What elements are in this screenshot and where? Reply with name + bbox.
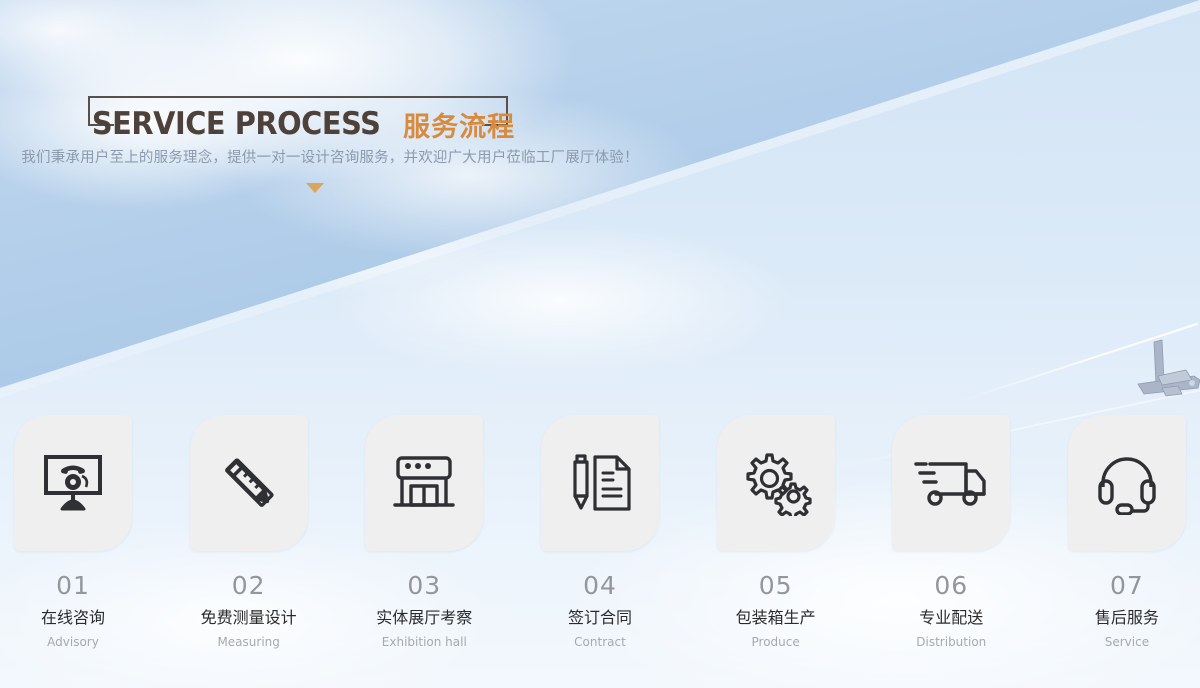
step-icon-card[interactable] (190, 415, 308, 551)
step-icon-card[interactable] (1068, 415, 1186, 551)
title-chinese: 服务流程 (403, 105, 515, 144)
page-title: SERVICE PROCESS 服务流程 (88, 102, 508, 146)
chevron-down-icon (306, 183, 324, 193)
service-process-banner: SERVICE PROCESS 服务流程 我们秉承用户至上的服务理念，提供一对一… (0, 0, 1200, 688)
pen-document-icon (567, 451, 633, 515)
step-label-cn: 免费测量设计 (201, 610, 297, 626)
process-step-06[interactable]: 06 专业配送 Distribution (892, 415, 1010, 648)
step-label-cn: 售后服务 (1095, 610, 1159, 626)
step-number: 04 (583, 573, 617, 598)
frame-top-bar (88, 96, 508, 98)
step-number: 05 (759, 573, 793, 598)
process-step-05[interactable]: 05 包装箱生产 Produce (717, 415, 835, 648)
step-label-cn: 在线咨询 (41, 610, 105, 626)
step-label-cn: 签订合同 (568, 610, 632, 626)
step-label-cn: 包装箱生产 (736, 610, 816, 626)
process-step-02[interactable]: 02 免费测量设计 Measuring (190, 415, 308, 648)
title-english: SERVICE PROCESS (92, 106, 381, 142)
monitor-phone-icon (38, 452, 108, 514)
step-icon-card[interactable] (14, 415, 132, 551)
process-step-04[interactable]: 04 签订合同 Contract (541, 415, 659, 648)
step-icon-card[interactable] (365, 415, 483, 551)
process-step-01[interactable]: 01 在线咨询 Advisory (14, 415, 132, 648)
delivery-truck-icon (914, 455, 988, 511)
step-label-en: Produce (752, 636, 800, 648)
step-icon-card[interactable] (541, 415, 659, 551)
step-number: 06 (934, 573, 968, 598)
step-icon-card[interactable] (717, 415, 835, 551)
step-icon-card[interactable] (892, 415, 1010, 551)
step-label-cn: 实体展厅考察 (376, 610, 472, 626)
step-number: 02 (232, 573, 266, 598)
step-number: 07 (1110, 573, 1144, 598)
step-number: 01 (56, 573, 90, 598)
process-steps-list: 01 在线咨询 Advisory (0, 415, 1200, 648)
step-label-cn: 专业配送 (919, 610, 983, 626)
airplane-icon (1108, 336, 1200, 412)
step-number: 03 (407, 573, 441, 598)
step-label-en: Service (1105, 636, 1149, 648)
ruler-pencil-icon (216, 451, 282, 515)
step-label-en: Measuring (217, 636, 279, 648)
step-label-en: Contract (574, 636, 626, 648)
process-step-07[interactable]: 07 售后服务 Service (1068, 415, 1186, 648)
headset-icon (1093, 451, 1161, 515)
storefront-icon (389, 453, 459, 513)
process-step-03[interactable]: 03 实体展厅考察 Exhibition hall (365, 415, 483, 648)
step-label-en: Distribution (916, 636, 986, 648)
gears-icon (740, 450, 812, 516)
step-label-en: Exhibition hall (382, 636, 467, 648)
banner-subtitle: 我们秉承用户至上的服务理念，提供一对一设计咨询服务，并欢迎广大用户莅临工厂展厅体… (0, 146, 660, 167)
step-label-en: Advisory (47, 636, 99, 648)
